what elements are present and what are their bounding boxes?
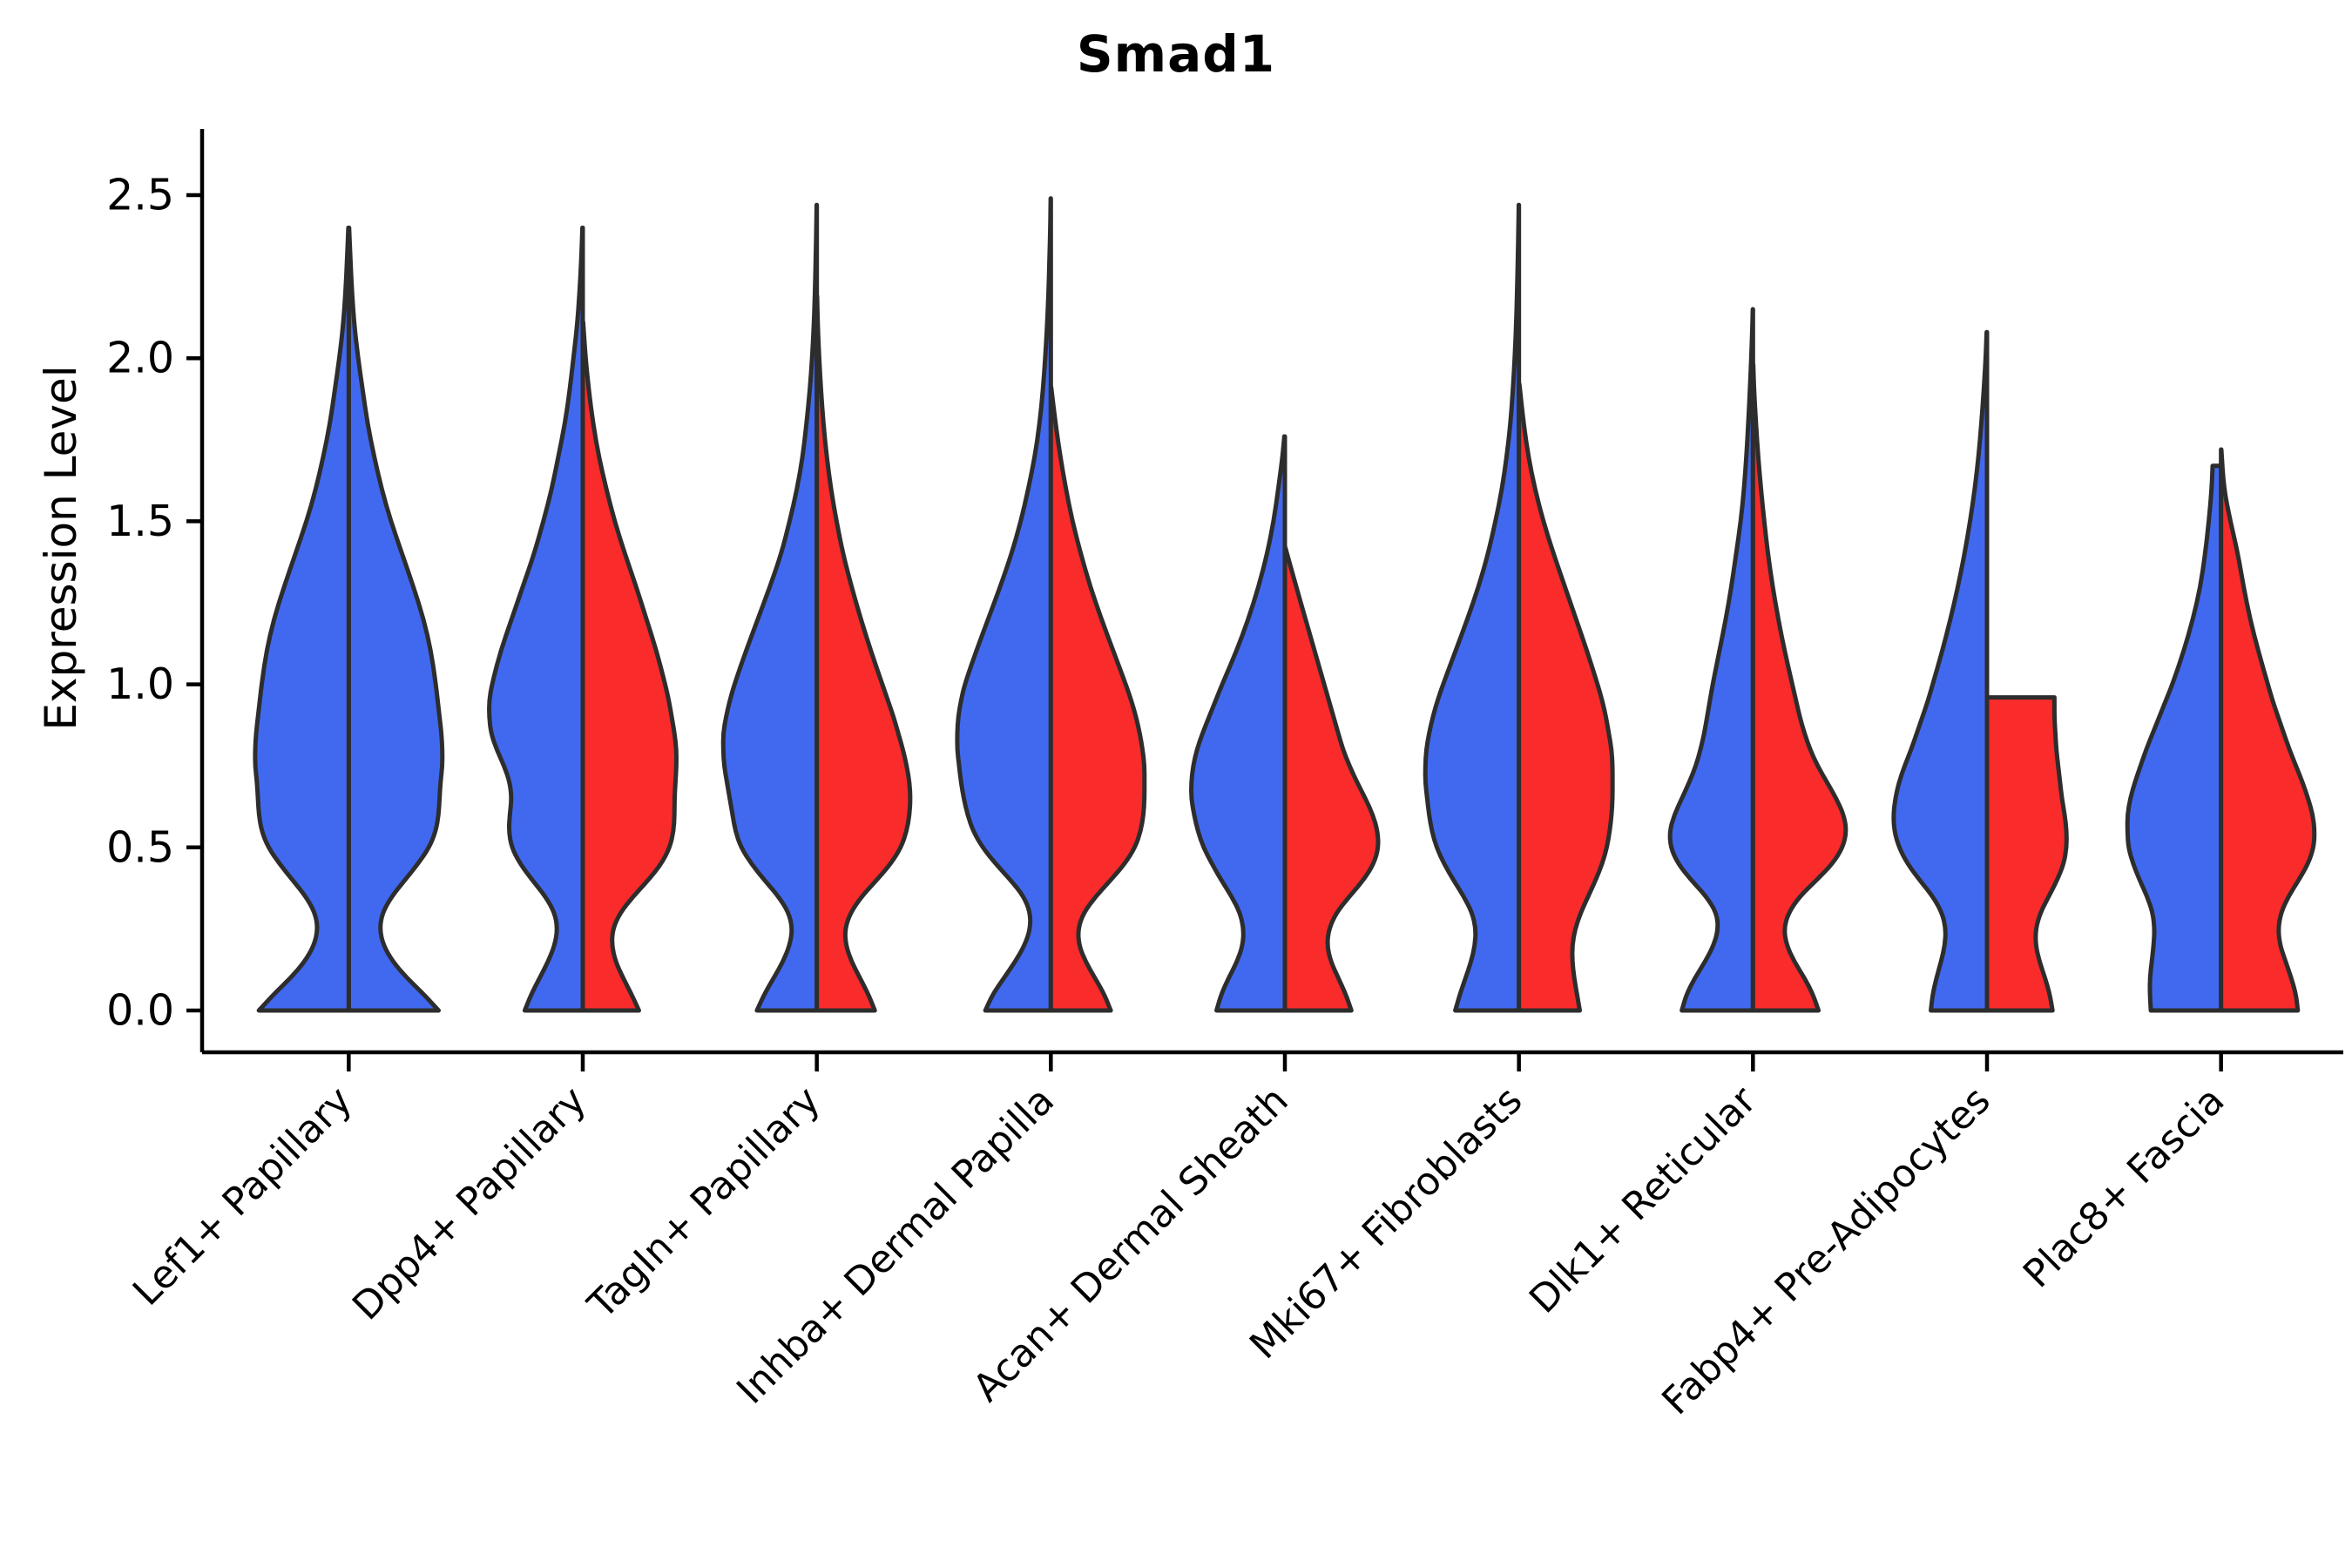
violins-layer [255,199,2315,1010]
x-tick-label-6: Dlk1+ Reticular [1521,1078,1766,1322]
y-tick-labels: 0.00.51.01.52.02.5 [106,171,202,1036]
violin-group_b-8 [2221,449,2315,1010]
violin-group_b-4 [1285,547,1378,1010]
y-tick-label-2: 1.0 [106,659,174,709]
violin-group_a-1 [490,227,583,1010]
violin-group_a-7 [1894,332,1987,1010]
violin-group_a-4 [1192,436,1285,1010]
x-tick-label-2: TagIn+ Papillary [579,1078,829,1328]
violin-group_b-2 [817,296,910,1010]
y-tick-label-5: 2.5 [106,171,174,220]
x-tick-label-8: Plac8+ Fascia [2015,1078,2234,1297]
violin-group_a-2 [723,205,816,1010]
violin-group_b-6 [1753,365,1846,1010]
y-tick-label-3: 1.5 [106,497,174,546]
x-tick-label-1: Dpp4+ Papillary [344,1078,595,1329]
violin-group_a-5 [1425,205,1518,1010]
y-tick-label-0: 0.0 [106,986,174,1036]
violin-group_b-7 [1987,698,2066,1010]
violin-group_a-0-mirror [348,227,442,1010]
violin-group_a-3 [957,199,1051,1010]
plot-canvas: 0.00.51.01.52.02.5 Lef1+ PapillaryDpp4+ … [0,0,2352,1568]
y-tick-label-4: 2.0 [106,334,174,383]
y-tick-label-1: 0.5 [106,822,174,872]
violin-group_b-5 [1519,384,1612,1010]
x-tick-label-0: Lef1+ Papillary [125,1078,361,1315]
violin-plot-figure: Smad1 Expression Level 0.00.51.01.52.02.… [0,0,2352,1568]
violin-group_b-3 [1051,388,1144,1010]
x-tick-labels: Lef1+ PapillaryDpp4+ PapillaryTagIn+ Pap… [125,1052,2233,1423]
violin-group_a-0 [255,227,348,1010]
violin-group_a-8 [2127,466,2220,1010]
violin-group_b-1 [583,322,676,1010]
violin-group_a-6 [1670,309,1753,1010]
